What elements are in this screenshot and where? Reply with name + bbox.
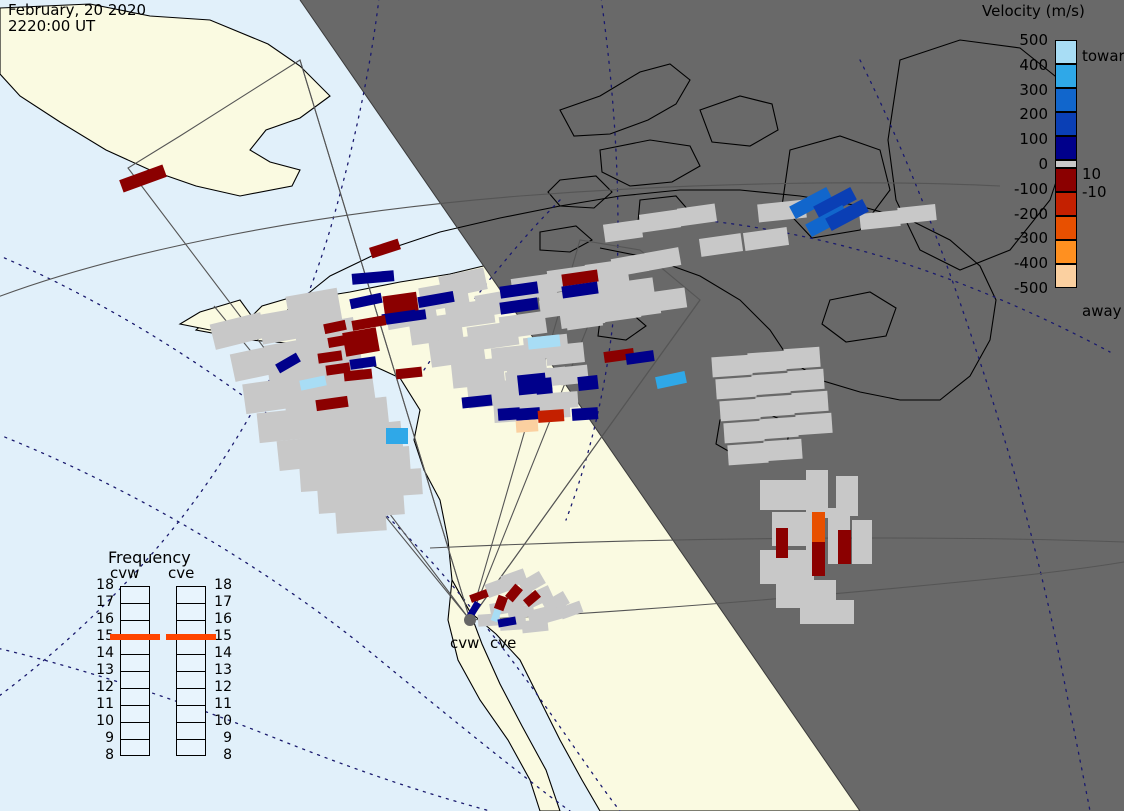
radar-cell	[812, 542, 825, 576]
colorbar-band-7	[1055, 192, 1077, 216]
frequency-scale-label-cvw-13: 13	[92, 662, 114, 678]
frequency-cell	[177, 655, 205, 672]
radar-cell	[812, 512, 825, 546]
frequency-cell	[177, 672, 205, 689]
ground-scatter-cell	[787, 369, 824, 391]
ground-scatter-cell	[760, 480, 806, 510]
colorbar-band-9	[1055, 240, 1077, 264]
ground-scatter-cell	[791, 391, 828, 413]
ground-scatter-cell	[727, 443, 768, 466]
frequency-cell	[121, 655, 149, 672]
radar-cell	[572, 407, 599, 421]
frequency-cell	[177, 689, 205, 706]
ground-scatter-cell	[719, 399, 760, 422]
frequency-scale-label-cvw-18: 18	[92, 577, 114, 593]
colorbar-tick-10: -500	[1000, 279, 1048, 297]
frequency-column-header-cvw: cvw	[110, 564, 139, 582]
colorbar-tick-1: 400	[1000, 56, 1048, 74]
colorbar-tick-5: 0	[1000, 155, 1048, 173]
radar-cell	[516, 407, 541, 421]
frequency-scale-label-cve-16: 16	[210, 611, 232, 627]
frequency-scale-label-cve-14: 14	[210, 645, 232, 661]
colorbar-neg-threshold-label: -10	[1082, 183, 1107, 201]
frequency-cell	[177, 706, 205, 723]
frequency-cell	[121, 638, 149, 655]
ground-scatter-cell	[723, 421, 764, 444]
frequency-cell	[177, 638, 205, 655]
frequency-scale-label-cvw-12: 12	[92, 679, 114, 695]
frequency-cell	[177, 587, 205, 604]
frequency-scale-label-cve-13: 13	[210, 662, 232, 678]
colorbar-band-0	[1055, 40, 1077, 64]
colorbar-band-6	[1055, 168, 1077, 192]
ground-scatter-cell	[551, 391, 578, 409]
datetime-label: February, 20 2020 2220:00 UT	[8, 2, 146, 34]
colorbar-tick-2: 300	[1000, 81, 1048, 99]
ground-scatter-cell	[759, 417, 798, 440]
ground-scatter-cell	[335, 506, 387, 533]
colorbar-band-10	[1055, 264, 1077, 288]
time-text: 2220:00 UT	[8, 17, 95, 35]
colorbar-band-8	[1055, 216, 1077, 240]
frequency-scale-label-cvw-11: 11	[92, 696, 114, 712]
frequency-cell	[177, 604, 205, 621]
frequency-scale-label-cve-10: 10	[210, 713, 232, 729]
frequency-bar-cve	[176, 586, 206, 756]
frequency-scale-label-cve-12: 12	[210, 679, 232, 695]
frequency-scale-label-cvw-16: 16	[92, 611, 114, 627]
colorbar-tick-4: 100	[1000, 130, 1048, 148]
frequency-scale-label-cvw-17: 17	[92, 594, 114, 610]
colorbar-tick-8: -300	[1000, 229, 1048, 247]
frequency-cell	[121, 706, 149, 723]
colorbar-band-3	[1055, 112, 1077, 136]
frequency-cell	[177, 723, 205, 740]
frequency-scale-label-cve-9: 9	[210, 730, 232, 746]
ground-scatter-cell	[751, 373, 790, 396]
colorbar-title: Velocity (m/s)	[982, 2, 1085, 20]
radar-cell	[776, 528, 788, 558]
radar-velocity-map: February, 20 2020 2220:00 UT Velocity (m…	[0, 0, 1124, 811]
radar-cell	[516, 419, 539, 433]
station-label-cvw: cvw	[450, 634, 479, 652]
ground-scatter-cell	[715, 377, 756, 400]
station-label-cve: cve	[490, 634, 516, 652]
frequency-scale-label-cvw-9: 9	[92, 730, 114, 746]
colorbar-away-label: away	[1082, 302, 1122, 320]
radar-cell	[386, 428, 408, 444]
colorbar-tick-3: 200	[1000, 105, 1048, 123]
ground-scatter-cell	[747, 351, 786, 374]
frequency-column-header-cve: cve	[168, 564, 194, 582]
ground-scatter-cell	[852, 520, 872, 564]
ground-scatter-cell	[763, 439, 802, 462]
frequency-bar-cvw	[120, 586, 150, 756]
frequency-scale-label-cve-8: 8	[210, 747, 232, 763]
ground-scatter-cell	[711, 355, 752, 378]
frequency-scale-label-cve-17: 17	[210, 594, 232, 610]
colorbar-band-1	[1055, 64, 1077, 88]
map-canvas	[0, 0, 1124, 811]
frequency-marker-cve	[166, 634, 216, 640]
frequency-scale-label-cvw-14: 14	[92, 645, 114, 661]
frequency-cell	[121, 587, 149, 604]
frequency-cell	[121, 689, 149, 706]
colorbar-toward-label: toward	[1082, 47, 1124, 65]
ground-scatter-cell	[755, 395, 794, 418]
radar-cell	[577, 375, 598, 391]
ground-scatter-cell	[800, 600, 854, 624]
colorbar-tick-9: -400	[1000, 254, 1048, 272]
colorbar-pos-threshold-label: 10	[1082, 165, 1101, 183]
frequency-cell	[121, 604, 149, 621]
colorbar-band-4	[1055, 136, 1077, 160]
frequency-cell	[121, 672, 149, 689]
colorbar-band-2	[1055, 88, 1077, 112]
colorbar-tick-0: 500	[1000, 31, 1048, 49]
colorbar-tick-7: -200	[1000, 205, 1048, 223]
radar-cell	[838, 530, 851, 564]
radar-cell	[538, 409, 565, 423]
frequency-marker-cvw	[110, 634, 160, 640]
ground-scatter-cell	[783, 347, 820, 369]
radar-cell	[535, 377, 553, 395]
radar-station-marker	[464, 614, 476, 626]
frequency-scale-label-cve-11: 11	[210, 696, 232, 712]
colorbar-tick-6: -100	[1000, 180, 1048, 198]
ground-scatter-cell	[795, 413, 832, 435]
colorbar-band-5	[1055, 160, 1077, 168]
frequency-cell	[121, 723, 149, 740]
frequency-scale-label-cve-18: 18	[210, 577, 232, 593]
frequency-scale-label-cvw-8: 8	[92, 747, 114, 763]
frequency-scale-label-cvw-10: 10	[92, 713, 114, 729]
ground-scatter-cell	[806, 470, 828, 518]
